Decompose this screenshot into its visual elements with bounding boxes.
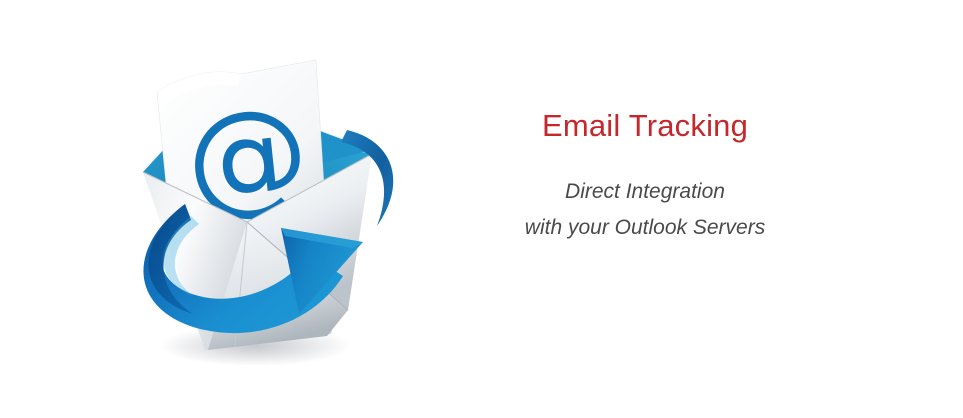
envelope-graphic: @: [95, 38, 405, 368]
subtitle: Direct Integration with your Outlook Ser…: [455, 144, 835, 246]
subtitle-line-2: with your Outlook Servers: [455, 210, 835, 246]
page-title: Email Tracking: [455, 108, 835, 144]
subtitle-line-1: Direct Integration: [455, 174, 835, 210]
text-block: Email Tracking Direct Integration with y…: [455, 108, 835, 246]
email-envelope-illustration: @: [95, 38, 405, 368]
email-tracking-banner: @: [0, 0, 963, 418]
